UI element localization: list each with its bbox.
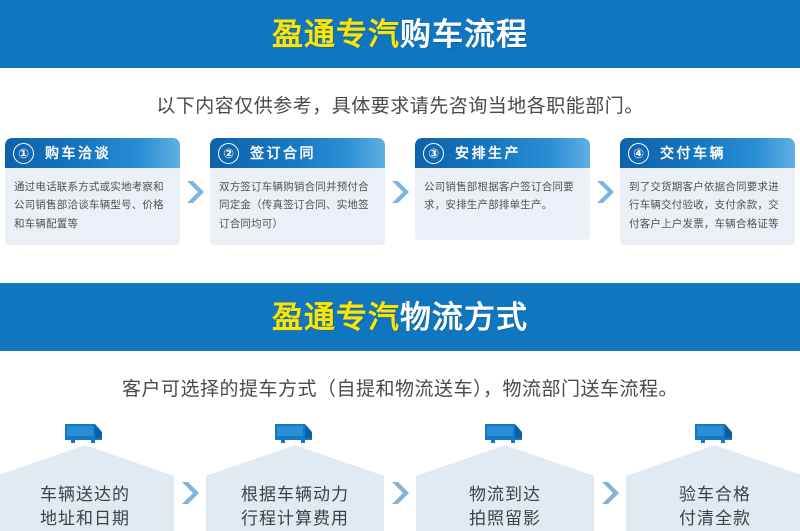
logistics-cards: 车辆送达的 地址和日期 根据车辆动力 行程计算费用 (0, 419, 800, 531)
truck-icon (62, 421, 108, 447)
brand-name: 盈通专汽 (272, 17, 400, 52)
chevron-right-icon (385, 179, 415, 205)
step-number-badge: ① (13, 143, 34, 164)
chevron-right-icon (590, 179, 620, 205)
chevron-right-icon (180, 179, 210, 205)
step-card-2-title: 签订合同 (250, 143, 316, 163)
brand-name: 盈通专汽 (272, 300, 400, 335)
logistics-card-1[interactable]: 车辆送达的 地址和日期 (0, 419, 174, 531)
logistics-card-3-line2: 拍照留影 (469, 507, 541, 531)
step-number-badge: ③ (423, 143, 444, 164)
step-card-3-header: ③ 安排生产 (415, 138, 590, 168)
buy-process-steps: ① 购车洽谈 通过电话联系方式或实地考察和公司销售部洽谈车辆型号、价格和车辆配置… (0, 138, 800, 245)
section-spacer (0, 245, 800, 283)
step-card-2[interactable]: ② 签订合同 双方签订车辆购销合同并预付合同定金（传真签订合同、实地签订合同均可… (210, 138, 385, 245)
step-card-3-title: 安排生产 (455, 143, 521, 163)
logistics-card-2-line2: 行程计算费用 (241, 507, 349, 531)
step-card-1-header: ① 购车洽谈 (5, 138, 180, 168)
logistics-card-3-line1: 物流到达 (469, 483, 541, 508)
step-card-2-header: ② 签订合同 (210, 138, 385, 168)
logistics-card-2[interactable]: 根据车辆动力 行程计算费用 (206, 419, 384, 531)
logistics-banner: 盈通专汽物流方式 (0, 283, 800, 351)
logistics-title: 盈通专汽物流方式 (272, 302, 528, 333)
buy-process-title-rest: 购车流程 (400, 17, 528, 52)
logistics-subtitle: 客户可选择的提车方式（自提和物流送车），物流部门送车流程。 (0, 351, 800, 419)
truck-icon (692, 421, 738, 447)
logistics-card-2-line1: 根据车辆动力 (241, 483, 349, 508)
logistics-card-4-shape: 验车合格 付清全款 (626, 445, 800, 531)
logistics-card-2-shape: 根据车辆动力 行程计算费用 (206, 445, 384, 531)
step-card-4-title: 交付车辆 (660, 143, 726, 163)
chevron-right-icon (594, 445, 626, 531)
logistics-card-4-line2: 付清全款 (679, 507, 751, 531)
logistics-card-3-shape: 物流到达 拍照留影 (416, 445, 594, 531)
step-card-1-title: 购车洽谈 (45, 143, 111, 163)
buy-process-title: 盈通专汽购车流程 (272, 19, 528, 50)
step-card-1[interactable]: ① 购车洽谈 通过电话联系方式或实地考察和公司销售部洽谈车辆型号、价格和车辆配置… (5, 138, 180, 245)
logistics-card-3[interactable]: 物流到达 拍照留影 (416, 419, 594, 531)
truck-icon (272, 421, 318, 447)
chevron-right-icon (174, 445, 206, 531)
step-card-4-header: ④ 交付车辆 (620, 138, 795, 168)
logistics-title-rest: 物流方式 (400, 300, 528, 335)
step-card-3-body: 公司销售部根据客户签订合同要求，安排生产部排单生产。 (415, 168, 590, 240)
buy-process-subtitle: 以下内容仅供参考，具体要求请先咨询当地各职能部门。 (0, 68, 800, 138)
step-card-4-body: 到了交货期客户依据合同要求进行车辆交付验收，支付余款，交付客户上户发票，车辆合格… (620, 168, 795, 245)
buy-process-banner: 盈通专汽购车流程 (0, 0, 800, 68)
step-number-badge: ④ (628, 143, 649, 164)
logistics-card-1-line1: 车辆送达的 (40, 483, 130, 508)
logistics-card-4-line1: 验车合格 (679, 483, 751, 508)
logistics-card-1-shape: 车辆送达的 地址和日期 (0, 445, 174, 531)
truck-icon (482, 421, 528, 447)
step-card-1-body: 通过电话联系方式或实地考察和公司销售部洽谈车辆型号、价格和车辆配置等 (5, 168, 180, 245)
logistics-card-1-line2: 地址和日期 (40, 507, 130, 531)
step-card-2-body: 双方签订车辆购销合同并预付合同定金（传真签订合同、实地签订合同均可） (210, 168, 385, 245)
step-card-3[interactable]: ③ 安排生产 公司销售部根据客户签订合同要求，安排生产部排单生产。 (415, 138, 590, 240)
chevron-right-icon (384, 445, 416, 531)
step-number-badge: ② (218, 143, 239, 164)
logistics-card-4[interactable]: 验车合格 付清全款 (626, 419, 800, 531)
step-card-4[interactable]: ④ 交付车辆 到了交货期客户依据合同要求进行车辆交付验收，支付余款，交付客户上户… (620, 138, 795, 245)
